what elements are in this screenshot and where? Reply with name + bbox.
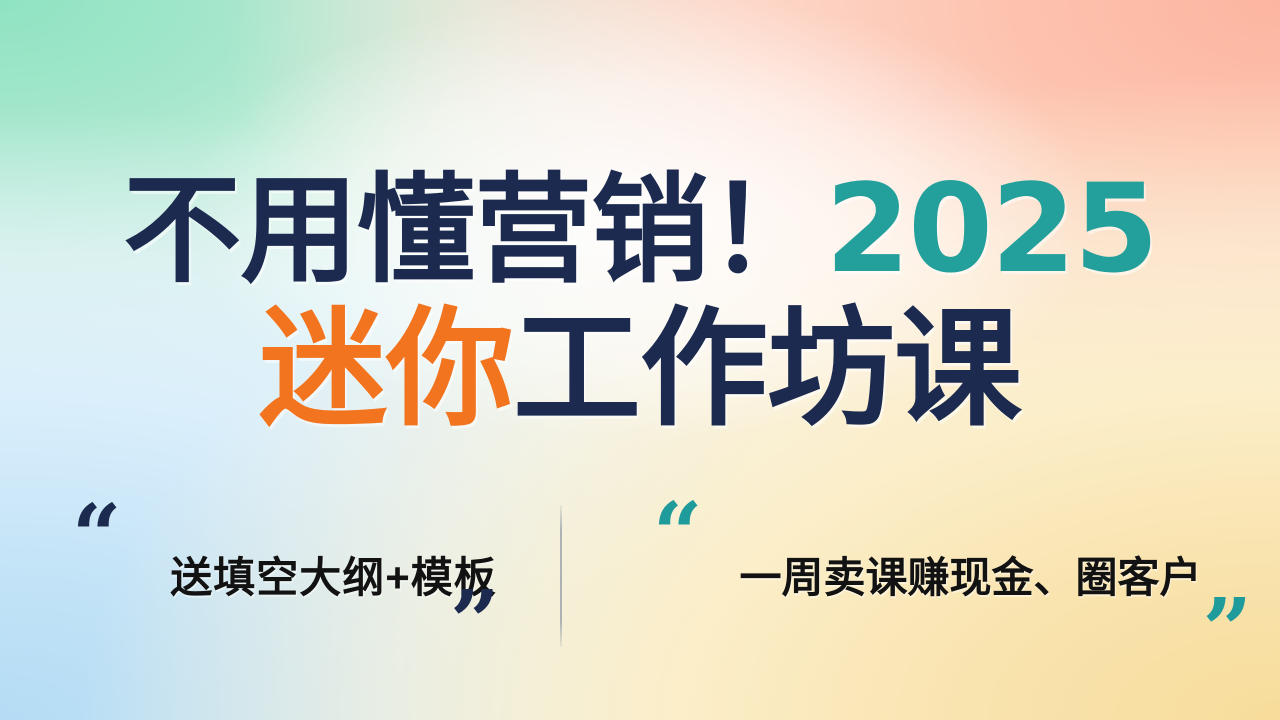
headline-line-2: 迷你工作坊课 — [0, 306, 1280, 434]
benefits-divider — [560, 505, 562, 647]
quote-close-icon: ” — [450, 580, 499, 666]
quote-open-icon: “ — [72, 494, 121, 580]
quote-open-icon: “ — [653, 492, 702, 578]
headline-year-badge: 2025 — [825, 158, 1157, 300]
headline-line-1-text: 不用懂营销！ — [123, 165, 825, 297]
headline-line-1: 不用懂营销！2025 — [0, 168, 1280, 290]
headline-group: 不用懂营销！2025 迷你工作坊课 — [0, 168, 1280, 434]
benefit-block-left: “ 送填空大纲+模板 ” — [0, 488, 643, 668]
quote-close-icon: ” — [1203, 588, 1252, 674]
headline-line-2-text: 工作坊课 — [513, 298, 1021, 441]
benefit-block-right: “ 一周卖课赚现金、圈客户 ” — [643, 488, 1280, 668]
benefit-text-left: 送填空大纲+模板 — [170, 557, 497, 599]
poster-canvas: 不用懂营销！2025 迷你工作坊课 “ 送填空大纲+模板 ” “ 一周卖课赚现金… — [0, 0, 1280, 720]
benefit-text-right: 一周卖课赚现金、圈客户 — [739, 557, 1201, 599]
benefits-row: “ 送填空大纲+模板 ” “ 一周卖课赚现金、圈客户 ” — [0, 488, 1280, 668]
headline-line-2-highlight: 迷你 — [259, 298, 513, 441]
